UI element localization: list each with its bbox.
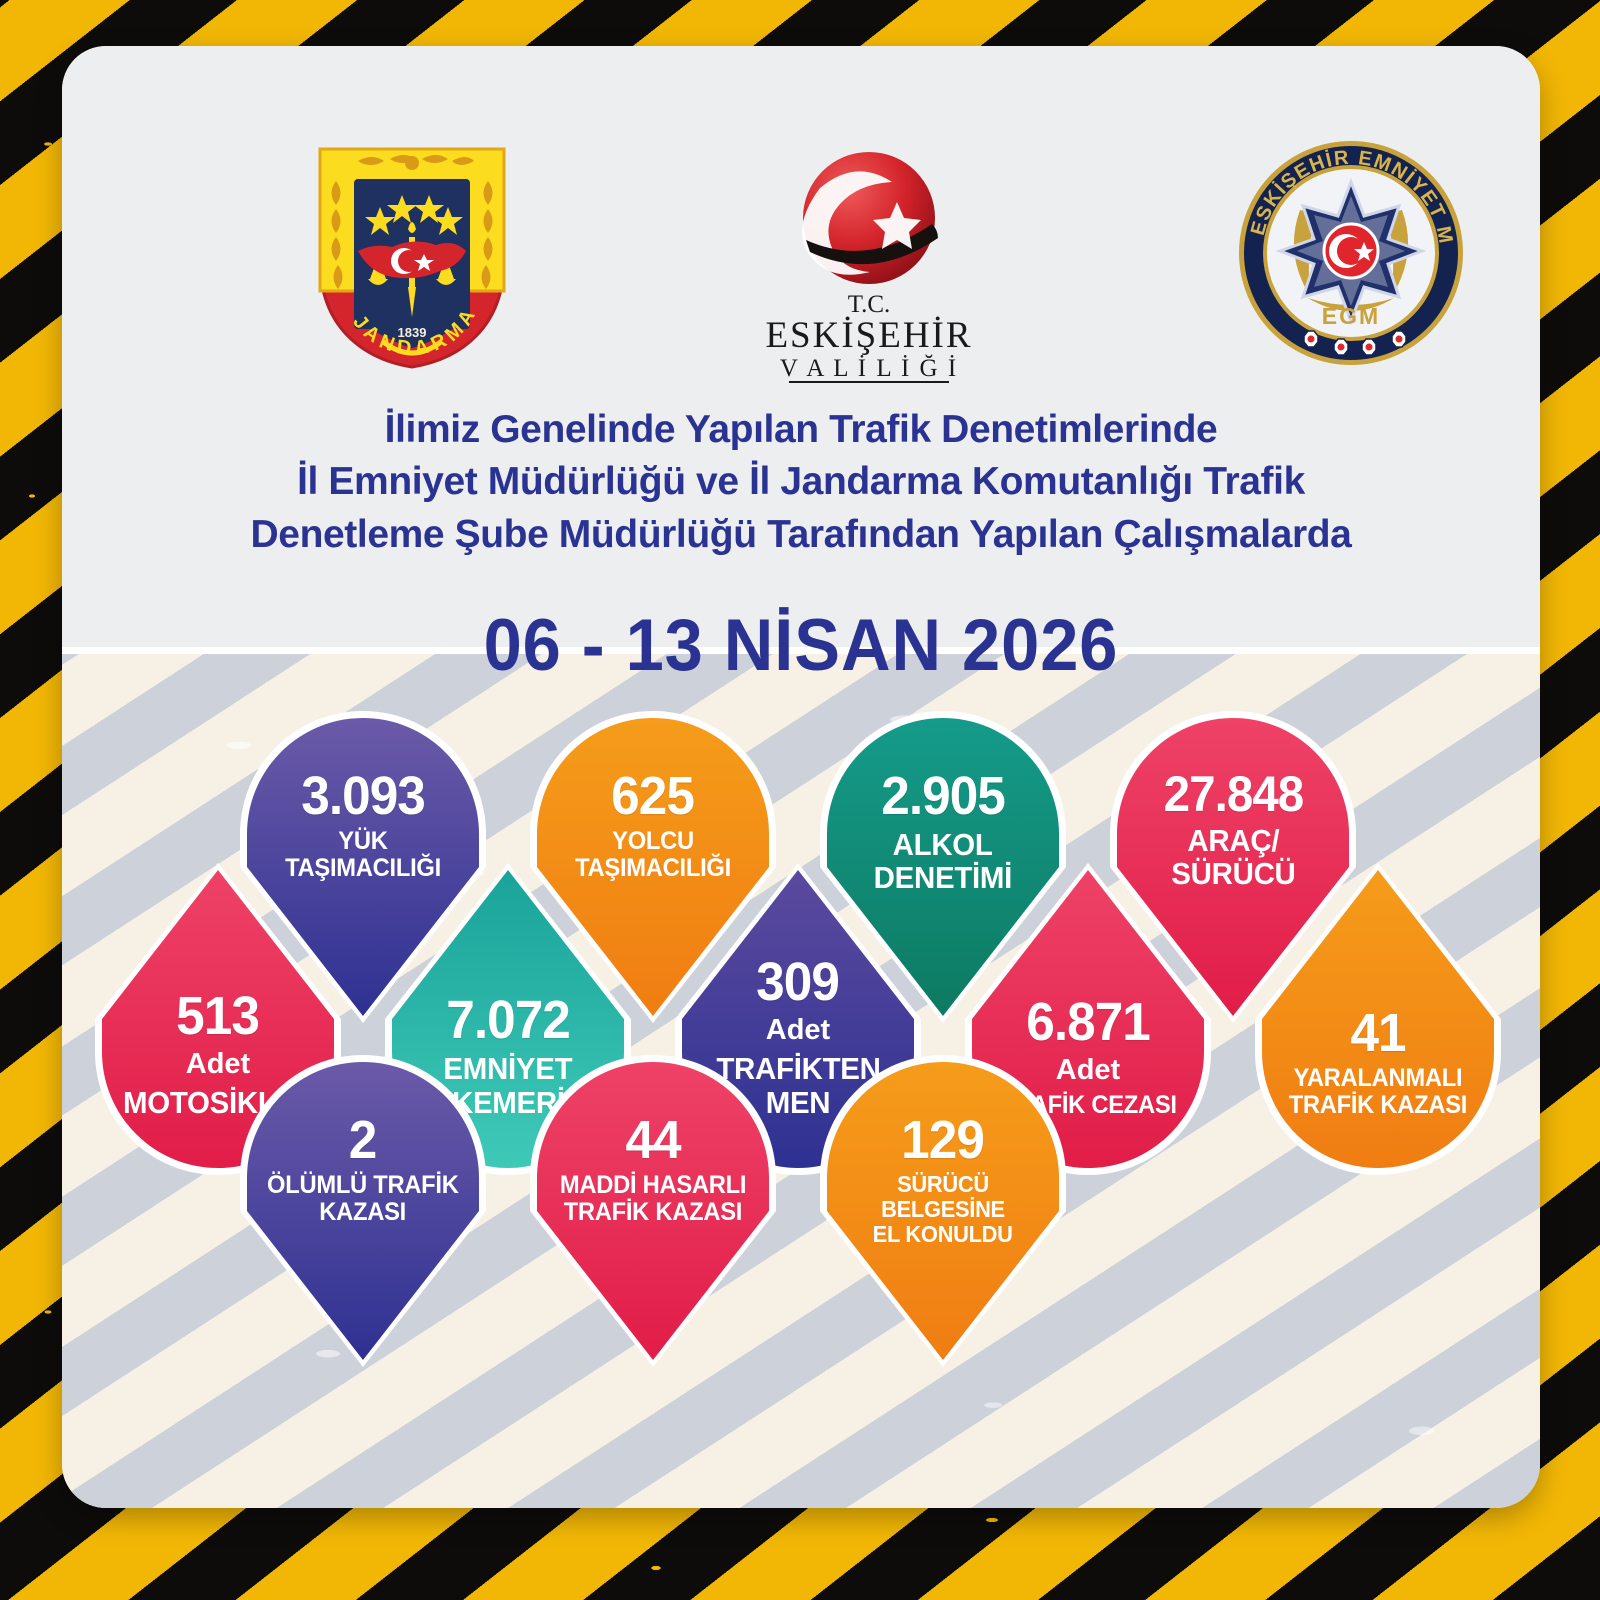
tile-text: 129SÜRÜCÜ BELGESİNEEL KONULDU xyxy=(820,1055,1066,1367)
tile-value: 7.072 xyxy=(446,993,570,1047)
headline-block: İlimiz Genelinde Yapılan Trafik Denetiml… xyxy=(112,404,1490,561)
tile-value: 513 xyxy=(177,989,260,1043)
stat-tile-surucu-belgesine-el-konuldu: 129SÜRÜCÜ BELGESİNEEL KONULDU xyxy=(820,1055,1066,1367)
stat-tile-maddi-hasarli-trafik-kazasi: 44MADDİ HASARLITRAFİK KAZASI xyxy=(530,1055,776,1367)
tile-label-1: YOLCU xyxy=(612,828,694,855)
headline-line-2: İl Emniyet Müdürlüğü ve İl Jandarma Komu… xyxy=(112,456,1490,508)
logo-row: 1839 JANDARMA xyxy=(62,46,1540,346)
tile-value: 6.871 xyxy=(1026,995,1150,1049)
tile-value: 2.905 xyxy=(881,769,1005,823)
tile-value: 44 xyxy=(625,1113,680,1167)
tile-value: 2 xyxy=(349,1113,377,1167)
tile-label-1: MADDİ HASARLI xyxy=(560,1172,746,1199)
tile-label-1: ARAÇ/ xyxy=(1187,824,1279,857)
stats-grid: 3.093YÜKTAŞIMACILIĞI625YOLCUTAŞIMACILIĞI… xyxy=(62,651,1540,1508)
info-card: 1839 JANDARMA xyxy=(62,46,1540,1508)
headline-line-1: İlimiz Genelinde Yapılan Trafik Denetiml… xyxy=(112,404,1490,456)
valilik-city: ESKİŞEHİR xyxy=(765,315,972,356)
tile-text: 44MADDİ HASARLITRAFİK KAZASI xyxy=(530,1055,776,1367)
tile-label-1: YÜK xyxy=(338,828,387,855)
jandarma-logo: 1839 JANDARMA xyxy=(312,141,512,371)
tile-text: 2ÖLÜMLÜ TRAFİKKAZASI xyxy=(240,1055,486,1367)
stat-tile-olumlu-trafik-kazasi: 2ÖLÜMLÜ TRAFİKKAZASI xyxy=(240,1055,486,1367)
tile-text: 41YARALANMALITRAFİK KAZASI xyxy=(1255,863,1501,1175)
tile-label-1: ÖLÜMLÜ TRAFİK xyxy=(267,1172,459,1199)
tile-value: 309 xyxy=(757,955,840,1009)
eskisehir-emniyet-mudurlugu-logo: ESKİŞEHİR EMNİYET MÜDÜRLÜĞÜ xyxy=(1236,138,1466,368)
egm-abbr: EGM xyxy=(1322,303,1380,329)
tile-value: 41 xyxy=(1350,1006,1405,1060)
tile-value: 3.093 xyxy=(301,769,425,823)
tile-label-2: TRAFİK KAZASI xyxy=(564,1199,742,1226)
tile-value: 625 xyxy=(612,769,695,823)
date-range: 06 - 13 NİSAN 2026 xyxy=(106,604,1495,687)
tile-unit: Adet xyxy=(766,1015,830,1047)
tile-label-2: TRAFİK KAZASI xyxy=(1289,1092,1467,1119)
headline-line-3: Denetleme Şube Müdürlüğü Tarafından Yapı… xyxy=(112,509,1490,561)
tile-label-1: SÜRÜCÜ BELGESİNE xyxy=(839,1172,1046,1222)
tile-label-2: EL KONULDU xyxy=(873,1222,1013,1247)
valilik-tc: T.C. xyxy=(848,291,891,318)
tile-label-1: ALKOL xyxy=(893,828,993,861)
valilik-word: V A L İ L İ Ğ İ xyxy=(780,354,958,382)
tile-value: 129 xyxy=(902,1113,985,1167)
tile-value: 27.848 xyxy=(1163,769,1303,819)
tile-label-1: YARALANMALI xyxy=(1294,1065,1463,1092)
poster-root: 1839 JANDARMA xyxy=(0,0,1600,1600)
stat-tile-yaralanmali-trafik-kazasi: 41YARALANMALITRAFİK KAZASI xyxy=(1255,863,1501,1175)
tile-label-2: KAZASI xyxy=(320,1199,407,1226)
eskisehir-valiligi-logo: T.C. ESKİŞEHİR V A L İ L İ Ğ İ xyxy=(734,144,1004,384)
